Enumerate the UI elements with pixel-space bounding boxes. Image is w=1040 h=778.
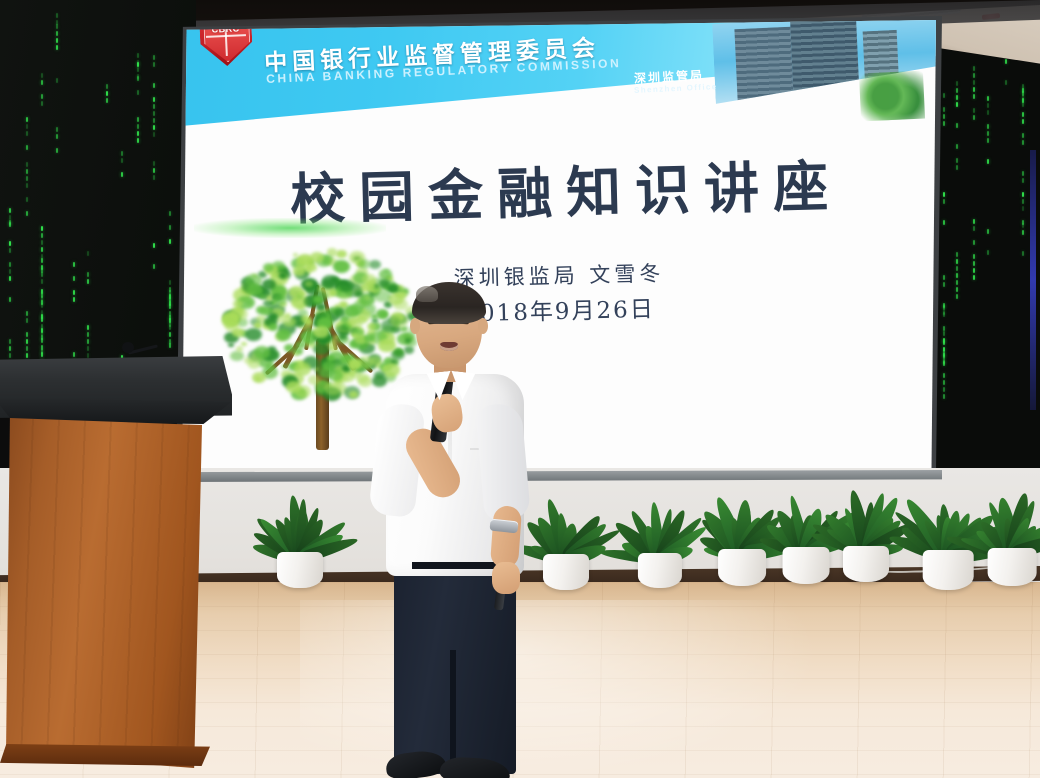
speaker-person [372, 276, 548, 778]
left-hand [492, 562, 520, 594]
wall-light-strip [1030, 150, 1036, 410]
plant-pot [843, 546, 889, 582]
mouth [440, 342, 458, 351]
banner-foliage [859, 71, 925, 122]
left-forearm [490, 505, 522, 569]
skyscraper [734, 26, 794, 117]
plant-pot [988, 548, 1037, 586]
plant-pot [543, 554, 589, 590]
photo-scene: CBRC 中国银行业监督管理委员会 CHINA BANKING REGULATO… [0, 0, 1040, 778]
tree-ground-glow [194, 218, 386, 238]
potted-plant [961, 476, 1040, 586]
led-panel-left [0, 0, 196, 406]
plant-pot [277, 552, 323, 588]
led-dot-matrix [0, 0, 196, 406]
podium-base [0, 744, 210, 766]
skyscraper [790, 20, 860, 118]
potted-plant [252, 484, 348, 588]
podium-body [6, 418, 202, 768]
plant-pot [638, 553, 682, 588]
presentation-slide: CBRC 中国银行业监督管理委员会 CHINA BANKING REGULATO… [182, 20, 936, 482]
